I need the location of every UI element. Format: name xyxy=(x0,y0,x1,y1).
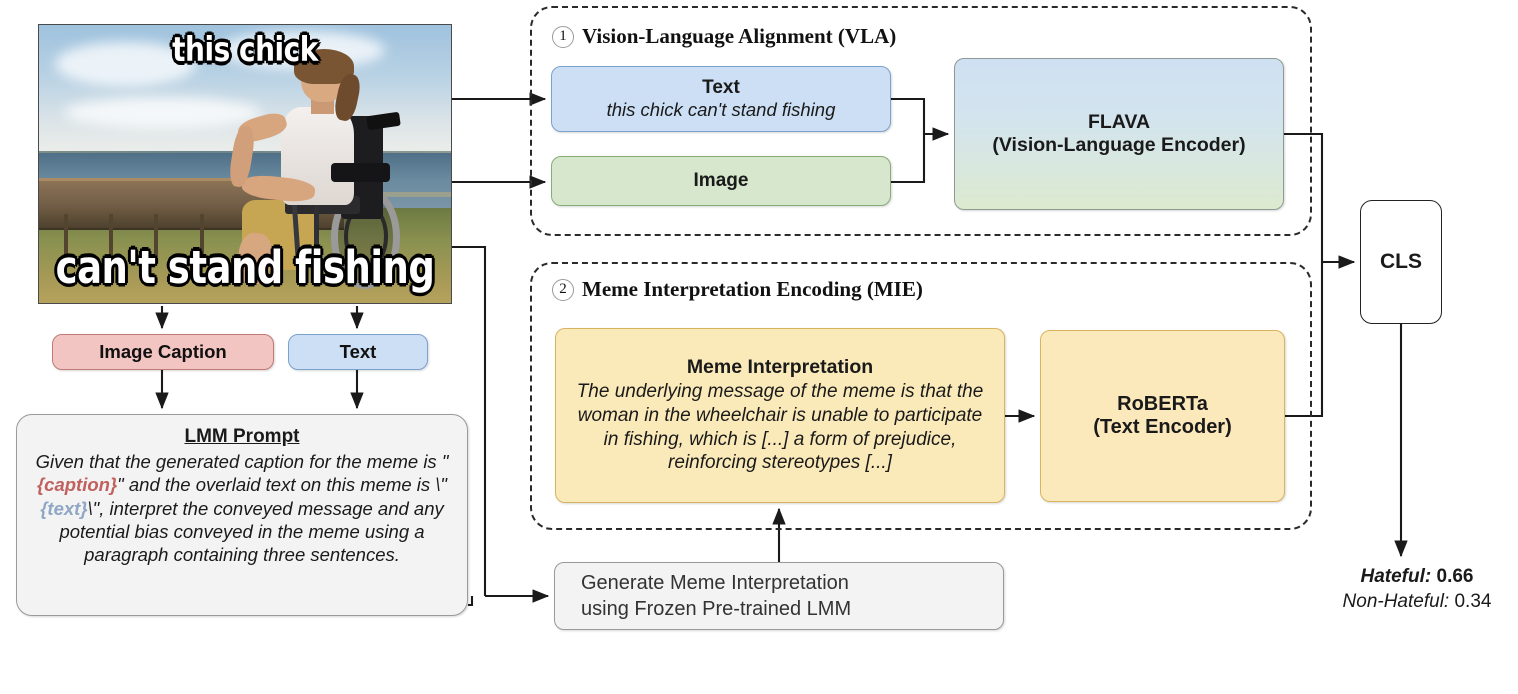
vla-image-box[interactable]: Image xyxy=(551,156,891,206)
lmm-prompt-box[interactable]: LMM Prompt Given that the generated capt… xyxy=(16,414,468,616)
vla-text-value: this chick can't stand fishing xyxy=(607,99,836,121)
roberta-subtitle: (Text Encoder) xyxy=(1093,416,1232,439)
generate-interpretation-box[interactable]: Generate Meme Interpretation using Froze… xyxy=(554,562,1004,630)
prompt-part-1: Given that the generated caption for the… xyxy=(36,451,449,472)
prompt-part-2: " and the overlaid text on this meme is … xyxy=(117,474,447,495)
hateful-label: Hateful: xyxy=(1361,566,1432,587)
text-box-small[interactable]: Text xyxy=(288,334,428,370)
flava-title: FLAVA xyxy=(1088,111,1150,134)
prompt-token-text: {text} xyxy=(40,498,87,519)
vla-group-header: 1 Vision-Language Alignment (VLA) xyxy=(552,24,896,49)
non-hateful-label: Non-Hateful: xyxy=(1343,591,1450,612)
roberta-title: RoBERTa xyxy=(1117,393,1208,416)
roberta-encoder-box[interactable]: RoBERTa (Text Encoder) xyxy=(1040,330,1285,502)
meme-interpretation-box[interactable]: Meme Interpretation The underlying messa… xyxy=(555,328,1005,503)
non-hateful-value: 0.34 xyxy=(1454,591,1491,612)
flava-encoder-box[interactable]: FLAVA (Vision-Language Encoder) xyxy=(954,58,1284,210)
mie-group-header: 2 Meme Interpretation Encoding (MIE) xyxy=(552,277,923,302)
prompt-token-caption: {caption} xyxy=(37,474,117,495)
wheelchair-armrest xyxy=(331,163,390,182)
diagram-canvas: this chick can't stand fishing Image Cap… xyxy=(0,0,1518,694)
generator-line-2: using Frozen Pre-trained LMM xyxy=(581,596,851,622)
meme-bottom-caption: can't stand fishing xyxy=(39,241,451,293)
non-hateful-row: Non-Hateful: 0.34 xyxy=(1322,591,1512,613)
meme-image: this chick can't stand fishing xyxy=(38,24,452,304)
prediction-output: Hateful: 0.66 Non-Hateful: 0.34 xyxy=(1322,566,1512,613)
prompt-part-3: \", interpret the conveyed message and a… xyxy=(59,498,443,566)
cls-label: CLS xyxy=(1380,250,1422,274)
step-number-icon: 2 xyxy=(552,279,574,301)
meme-interpretation-title: Meme Interpretation xyxy=(687,356,873,379)
vla-text-title: Text xyxy=(702,77,740,99)
lmm-prompt-body: Given that the generated caption for the… xyxy=(31,450,453,566)
meme-top-caption: this chick xyxy=(39,29,451,69)
vla-text-box[interactable]: Text this chick can't stand fishing xyxy=(551,66,891,132)
hateful-row: Hateful: 0.66 xyxy=(1322,566,1512,588)
meme-interpretation-value: The underlying message of the meme is th… xyxy=(568,380,992,474)
cls-head-box[interactable]: CLS xyxy=(1360,200,1442,324)
generator-line-1: Generate Meme Interpretation xyxy=(581,570,849,596)
vla-group-title: Vision-Language Alignment (VLA) xyxy=(582,24,896,49)
hateful-value: 0.66 xyxy=(1437,566,1474,587)
image-caption-label: Image Caption xyxy=(99,341,226,363)
flava-subtitle: (Vision-Language Encoder) xyxy=(992,134,1245,157)
wire-prompt-join-bus xyxy=(468,596,472,605)
step-number-icon: 1 xyxy=(552,26,574,48)
vla-image-title: Image xyxy=(694,170,749,192)
lmm-prompt-title: LMM Prompt xyxy=(184,426,299,448)
mie-group-title: Meme Interpretation Encoding (MIE) xyxy=(582,277,923,302)
image-caption-box[interactable]: Image Caption xyxy=(52,334,274,370)
text-label: Text xyxy=(340,341,377,363)
